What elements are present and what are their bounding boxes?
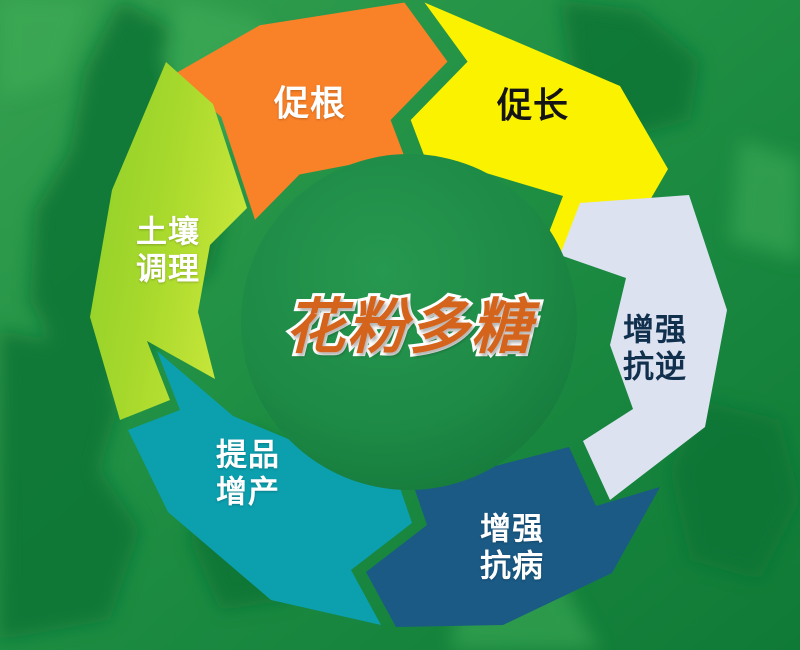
center-logo-text: 花粉多糖 [285, 279, 533, 366]
segment-zeng-qiang-kang-ni[interactable] [560, 195, 727, 500]
diagram-canvas: 促根 促长 增强 抗逆 增强 抗病 提品 增产 土壤 调理 花粉多糖 [0, 0, 800, 650]
